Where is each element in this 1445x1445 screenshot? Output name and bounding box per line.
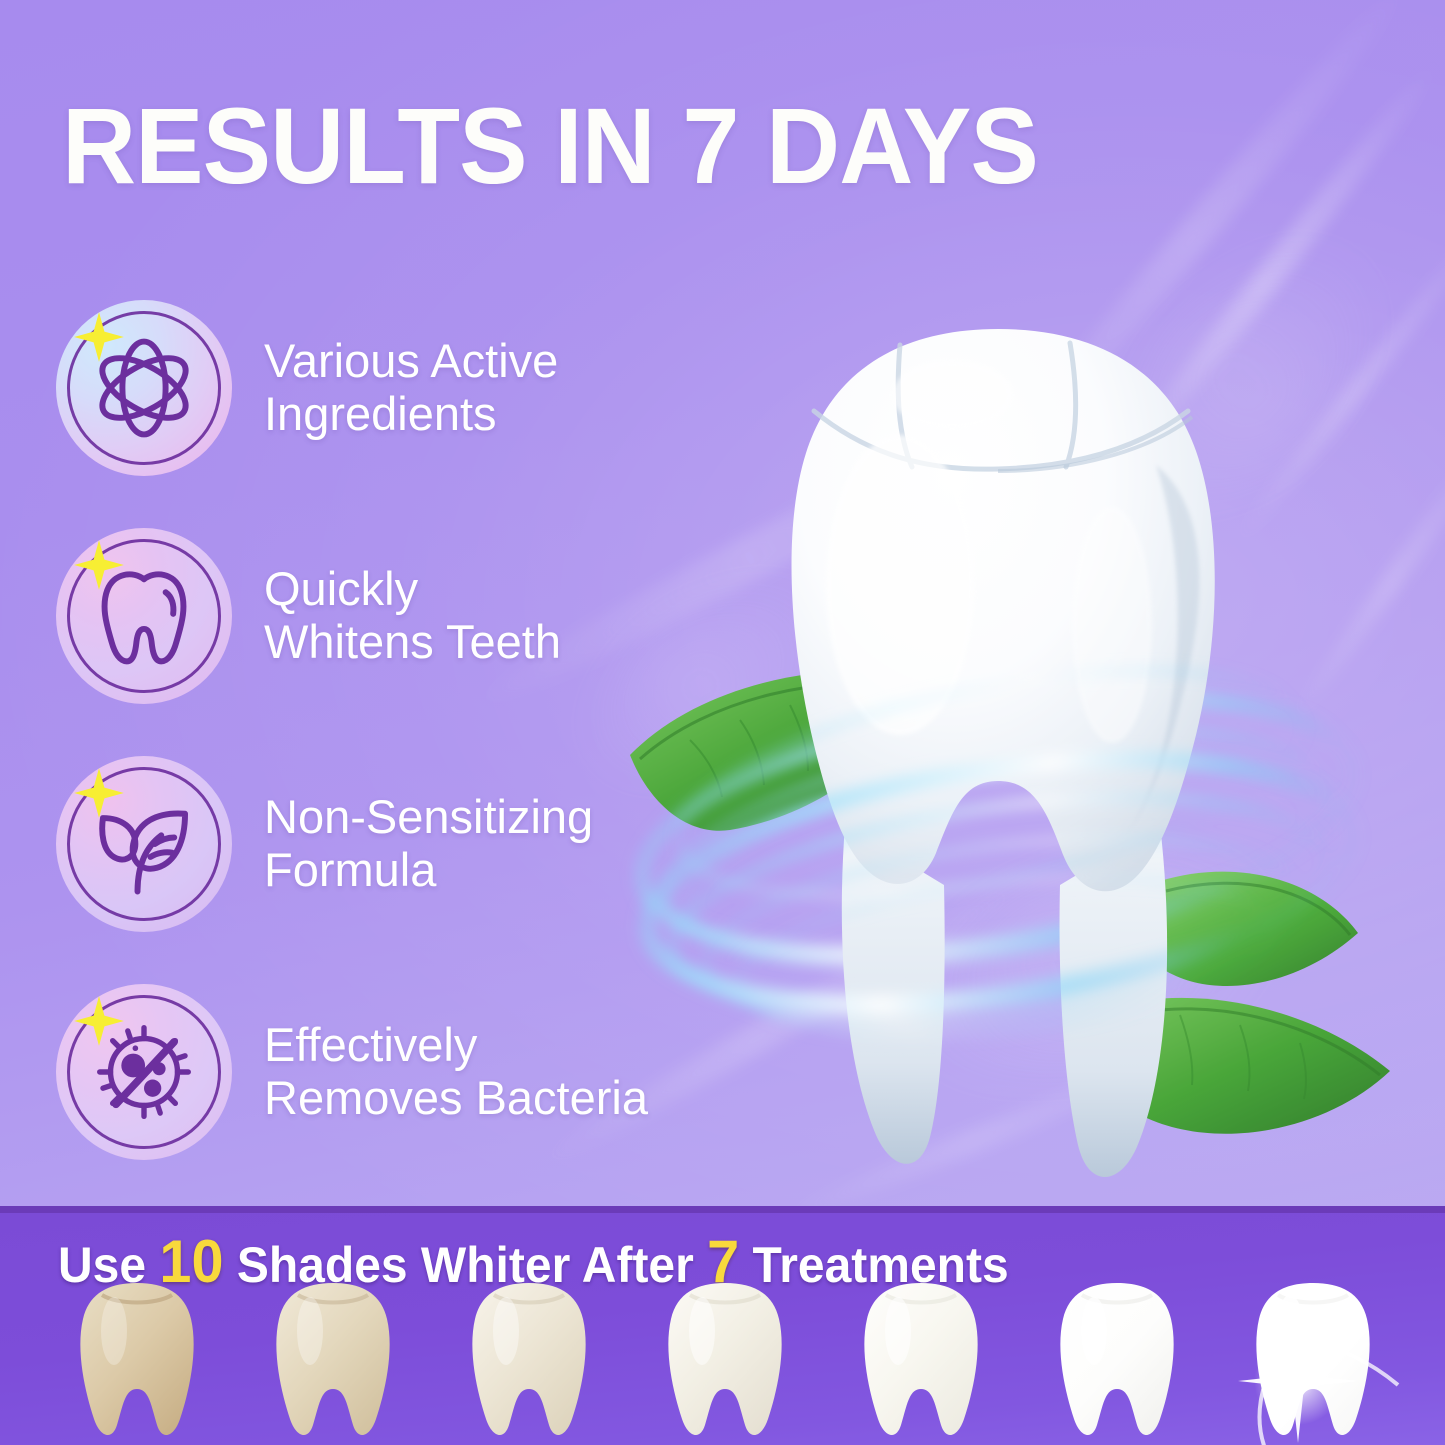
shade-tooth-2 [258, 1279, 408, 1445]
feature-label-line1: Non-Sensitizing [264, 790, 593, 843]
feature-label: Various Active Ingredients [264, 335, 558, 440]
sparkle-icon [72, 766, 126, 820]
feature-label: Effectively Removes Bacteria [264, 1019, 648, 1124]
banner-divider [0, 1206, 1445, 1213]
shade-tooth-4 [650, 1279, 800, 1445]
product-promo-poster: RESULTS IN 7 DAYS [0, 0, 1445, 1445]
feature-icon-badge [56, 528, 232, 704]
shade-tooth-3 [454, 1279, 604, 1445]
sparkle-icon [72, 310, 126, 364]
hero-tooth-illustration [600, 285, 1390, 1185]
feature-icon-badge [56, 300, 232, 476]
feature-label-line2: Formula [264, 843, 436, 896]
sparkle-icon [72, 994, 126, 1048]
feature-label-line1: Various Active [264, 334, 558, 387]
feature-label-line1: Effectively [264, 1018, 477, 1071]
feature-label: Quickly Whitens Teeth [264, 563, 561, 668]
feature-label-line2: Whitens Teeth [264, 615, 561, 668]
shade-tooth-6 [1042, 1279, 1192, 1445]
shade-tooth-5 [846, 1279, 996, 1445]
shade-tooth-7 [1238, 1279, 1388, 1445]
feature-label-line1: Quickly [264, 562, 418, 615]
shade-tooth-1 [62, 1279, 212, 1445]
page-title: RESULTS IN 7 DAYS [62, 92, 1038, 200]
feature-label-line2: Ingredients [264, 387, 497, 440]
feature-label: Non-Sensitizing Formula [264, 791, 593, 896]
sparkle-icon [72, 538, 126, 592]
shade-progression-banner: Use 10 Shades Whiter After 7 Treatments [0, 1213, 1445, 1445]
feature-icon-badge [56, 756, 232, 932]
feature-icon-badge [56, 984, 232, 1160]
shade-chart [0, 1279, 1445, 1445]
feature-label-line2: Removes Bacteria [264, 1071, 648, 1124]
